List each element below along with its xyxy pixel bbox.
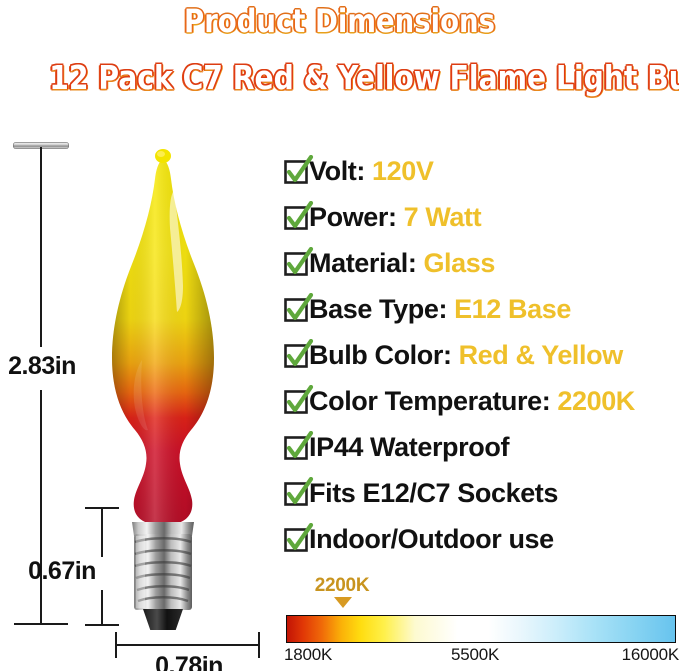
checkbox-checked-icon xyxy=(285,436,308,459)
product-illustration: 2.83in 0.67in 0.78in xyxy=(0,120,275,671)
light-bulb-image xyxy=(88,130,238,630)
checkbox-checked-icon xyxy=(285,160,308,183)
product-dimensions-infographic: Product Dimensions 12 Pack C7 Red & Yell… xyxy=(0,0,679,671)
feature-label: Material: xyxy=(309,248,416,278)
feature-row-color-temperature: Color Temperature: 2200K xyxy=(285,378,679,424)
feature-label: Bulb Color: xyxy=(309,340,452,370)
color-temperature-marker: 2200K xyxy=(300,575,384,597)
feature-row-power: Power: 7 Watt xyxy=(285,194,679,240)
feature-row-bulb-color: Bulb Color: Red & Yellow xyxy=(285,332,679,378)
feature-value: 120V xyxy=(372,156,433,186)
checkbox-checked-icon xyxy=(285,390,308,413)
base-collar xyxy=(132,522,194,536)
checkbox-checked-icon xyxy=(285,298,308,321)
checkbox-checked-icon xyxy=(285,528,308,551)
checkbox-checked-icon xyxy=(285,252,308,275)
feature-label: IP44 Waterproof xyxy=(309,432,509,462)
kelvin-tick-mid: 5500K xyxy=(451,645,499,665)
base-insulator xyxy=(143,609,183,630)
page-title: Product Dimensions xyxy=(48,2,632,40)
feature-row-material: Material: Glass xyxy=(285,240,679,286)
feature-label: Power: xyxy=(309,202,397,232)
feature-value: Glass xyxy=(423,248,495,278)
feature-row-base-type: Base Type: E12 Base xyxy=(285,286,679,332)
feature-label: Color Temperature: xyxy=(309,386,550,416)
base-highlight xyxy=(136,536,145,608)
height-dimension-line-lower xyxy=(40,390,42,625)
bulb-shading xyxy=(112,158,214,524)
kelvin-tick-max: 16000K xyxy=(622,645,679,665)
feature-value: 2200K xyxy=(557,386,635,416)
kelvin-gradient-bar xyxy=(286,615,676,643)
color-temperature-marker-label: 2200K xyxy=(315,575,370,596)
feature-row-indoor-outdoor: Indoor/Outdoor use xyxy=(285,516,679,562)
height-dimension-label: 2.83in xyxy=(0,352,84,381)
feature-label: Indoor/Outdoor use xyxy=(309,524,554,554)
checkbox-checked-icon xyxy=(285,482,308,505)
height-dimension-line-upper xyxy=(40,147,42,347)
feature-row-sockets: Fits E12/C7 Sockets xyxy=(285,470,679,516)
feature-value: Red & Yellow xyxy=(459,340,623,370)
width-dimension-label: 0.78in xyxy=(110,652,268,671)
width-dimension-line xyxy=(115,644,260,646)
feature-list: Volt: 120V Power: 7 Watt Materia xyxy=(285,148,679,562)
bulb-tip-highlight xyxy=(157,151,165,157)
feature-value: E12 Base xyxy=(454,294,571,324)
feature-row-volt: Volt: 120V xyxy=(285,148,679,194)
checkbox-checked-icon xyxy=(285,344,308,367)
feature-label: Base Type: xyxy=(309,294,447,324)
checkbox-checked-icon xyxy=(285,206,308,229)
feature-label: Volt: xyxy=(309,156,365,186)
marker-arrow-down-icon xyxy=(334,597,352,608)
feature-value: 7 Watt xyxy=(404,202,482,232)
feature-label: Fits E12/C7 Sockets xyxy=(309,478,558,508)
page-subtitle: 12 Pack C7 Red & Yellow Flame Light Bulb… xyxy=(49,58,630,98)
kelvin-tick-min: 1800K xyxy=(284,645,332,665)
kelvin-tick-labels: 1800K 5500K 16000K xyxy=(286,645,676,669)
feature-row-waterproof: IP44 Waterproof xyxy=(285,424,679,470)
height-dimension-bottom-cap xyxy=(14,623,68,625)
